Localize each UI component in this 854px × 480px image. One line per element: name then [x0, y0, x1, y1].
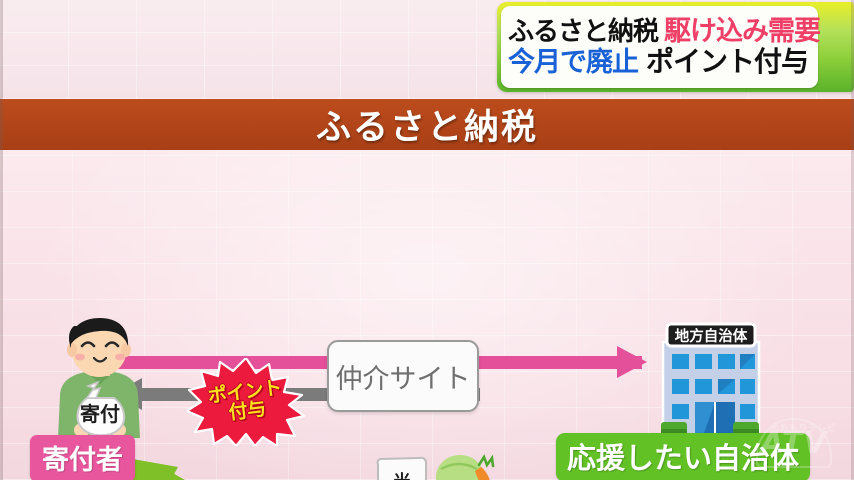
- points-burst-badge: ポイント 付与: [187, 358, 305, 446]
- intermediary-site-box: 仲介サイト: [327, 340, 479, 412]
- return-gift-items-illustration: 米: [375, 453, 523, 480]
- municipality-sign-text: 地方自治体: [675, 327, 748, 345]
- flash-news-inner: ふるさと納税 駆け込み需要 今月で廃止 ポイント付与: [501, 6, 818, 88]
- program-title-bar: ふるさと納税: [0, 99, 854, 150]
- flash-line-1: ふるさと納税 駆け込み需要: [508, 18, 811, 45]
- flash-line2-blue-text: 今月で廃止: [508, 49, 638, 76]
- flash-line1-black-text: ふるさと納税: [508, 19, 658, 45]
- diagram-stage: 寄付 寄付者 ポイント 付与 仲介サイト: [0, 150, 854, 480]
- broadcaster-watermark: あおもりテレビ ATV: [744, 416, 844, 470]
- page-title: ふるさと納税: [316, 99, 538, 150]
- donor-illustration: 寄付: [30, 318, 160, 443]
- donation-arrow-head-icon: [617, 346, 647, 378]
- donor-label-text: 寄付者: [42, 445, 123, 476]
- rice-bag-kanji: 米: [394, 471, 412, 480]
- flash-line2-black-text: ポイント付与: [646, 48, 808, 76]
- broadcast-screen: ふるさと納税 駆け込み需要 今月で廃止 ポイント付与 ふるさと納税: [0, 0, 854, 480]
- flash-news-banner: ふるさと納税 駆け込み需要 今月で廃止 ポイント付与: [497, 2, 854, 92]
- donor-label: 寄付者: [30, 435, 135, 480]
- money-bag-text: 寄付: [80, 402, 120, 426]
- left-edge-border: [0, 0, 3, 480]
- watermark-main-text: ATV: [748, 429, 840, 459]
- flash-line1-red-text: 駆け込み需要: [664, 18, 820, 45]
- intermediary-site-label: 仲介サイト: [336, 357, 471, 396]
- flash-line-2: 今月で廃止 ポイント付与: [508, 48, 811, 76]
